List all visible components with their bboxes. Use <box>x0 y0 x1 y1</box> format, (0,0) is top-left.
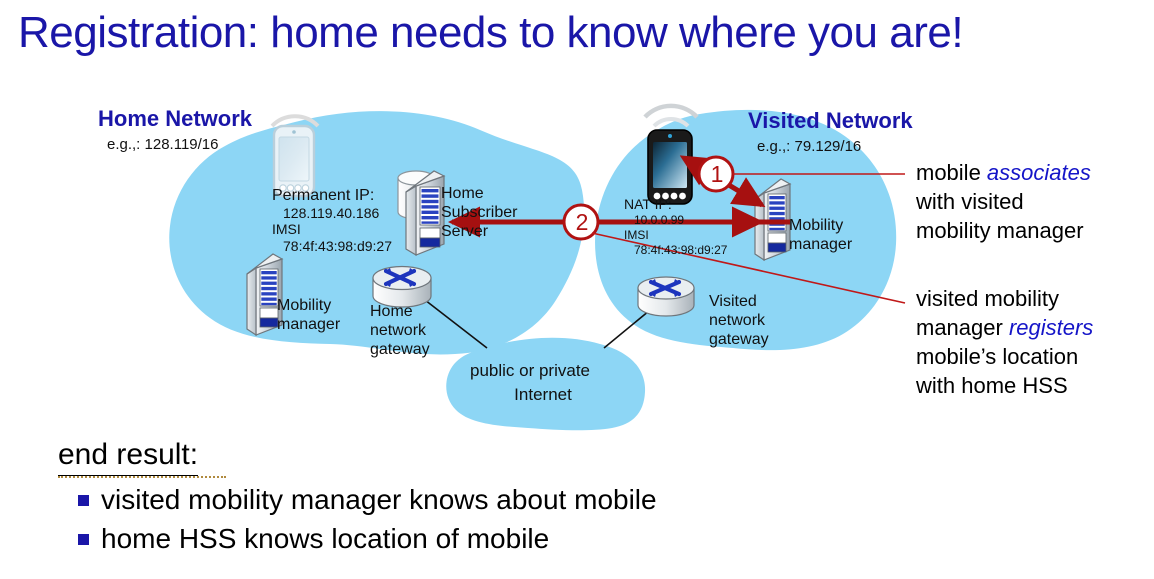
annotation-1: mobile associates with visited mobility … <box>916 158 1091 245</box>
annotation-2-line-2: manager registers <box>916 313 1093 342</box>
annotation-1-line-2: with visited <box>916 187 1091 216</box>
visited-gw-label-line1: Visited <box>709 292 757 311</box>
end-result-heading: end result: <box>58 436 198 476</box>
home-mobile-phone-icon <box>272 116 318 196</box>
visited-network-title: Visited Network <box>748 108 913 134</box>
visited-phone-ip-label: NAT IP: <box>624 196 672 213</box>
bullet-square-icon <box>78 534 89 545</box>
home-network-gateway-icon <box>373 267 431 308</box>
list-item: home HSS knows location of mobile <box>78 521 549 557</box>
annotation-2: visited mobility manager registers mobil… <box>916 284 1093 400</box>
hss-label-line2: Subscriber <box>441 203 517 222</box>
end-result-bullet-1: visited mobility manager knows about mob… <box>101 482 657 518</box>
home-gw-label-line2: network <box>370 321 426 340</box>
home-phone-ip-value: 128.119.40.186 <box>283 205 379 222</box>
bullet-square-icon <box>78 495 89 506</box>
home-gw-label-line1: Home <box>370 302 413 321</box>
visited-gw-label-line2: network <box>709 311 765 330</box>
annotation-1-line-3: mobility manager <box>916 216 1091 245</box>
home-gw-label-line3: gateway <box>370 340 430 359</box>
end-result-bullet-2: home HSS knows location of mobile <box>101 521 549 557</box>
annotation-2-line-1: visited mobility <box>916 284 1093 313</box>
home-phone-imsi-value: 78:4f:43:98:d9:27 <box>283 238 392 255</box>
end-result-underline <box>58 474 226 478</box>
home-phone-ip-label: Permanent IP: <box>272 186 374 205</box>
hss-label-line1: Home <box>441 184 484 203</box>
home-mm-label-line1: Mobility <box>277 296 331 315</box>
visited-gw-label-line3: gateway <box>709 330 769 349</box>
step-marker-2-label: 2 <box>572 209 592 236</box>
home-phone-imsi-label: IMSI <box>272 221 301 238</box>
visited-phone-ip-value: 10.0.0.99 <box>634 213 684 228</box>
visited-network-gateway-icon <box>638 277 694 316</box>
home-network-subtitle: e.g.,: 128.119/16 <box>107 136 218 153</box>
internet-cloud-line1: public or private <box>470 360 590 382</box>
internet-cloud-line2: Internet <box>470 384 616 406</box>
home-network-title: Home Network <box>98 106 252 132</box>
hss-label-line3: Server <box>441 222 488 241</box>
visited-mm-label-line1: Mobility <box>789 216 843 235</box>
visited-mm-label-line2: manager <box>789 235 852 254</box>
annotation-2-line-4: with home HSS <box>916 371 1093 400</box>
visited-network-subtitle: e.g.,: 79.129/16 <box>757 138 861 155</box>
visited-phone-imsi-value: 78:4f:43:98:d9:27 <box>634 243 727 258</box>
list-item: visited mobility manager knows about mob… <box>78 482 657 518</box>
home-mm-label-line2: manager <box>277 315 340 334</box>
annotation-2-line-3: mobile’s location <box>916 342 1093 371</box>
visited-phone-imsi-label: IMSI <box>624 228 649 243</box>
slide-root: Registration: home needs to know where y… <box>0 0 1154 579</box>
annotation-1-line-1: mobile associates <box>916 158 1091 187</box>
step-marker-1-label: 1 <box>707 161 727 188</box>
